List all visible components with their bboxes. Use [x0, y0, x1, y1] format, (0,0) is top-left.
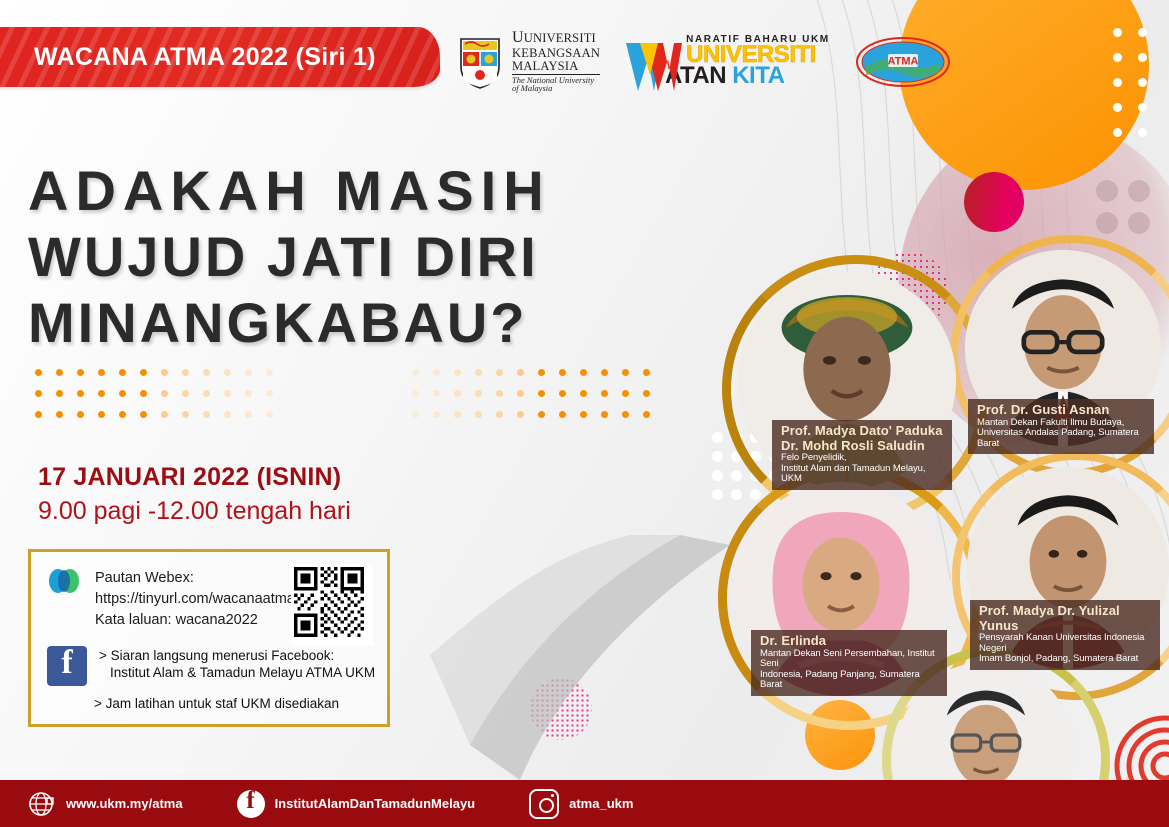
training-hours-note: > Jam latihan untuk staf UKM disediakan	[94, 696, 339, 711]
speaker-4-role-line-2: Imam Bonjol, Padang, Sumatera Barat	[979, 654, 1151, 665]
speaker-4-name-line-1: Prof. Madya Dr. Yulizal Yunus	[979, 604, 1151, 633]
watan-atan: ATAN	[665, 62, 726, 89]
speaker-nameplate-2: Prof. Dr. Gusti Asnan Mantan Dekan Fakul…	[968, 399, 1154, 454]
webex-row: Pautan Webex: https://tinyurl.com/wacana…	[47, 568, 295, 631]
speaker-2-name-line-1: Prof. Dr. Gusti Asnan	[977, 403, 1145, 418]
speaker-nameplate-1: Prof. Madya Dato' Paduka Dr. Mohd Rosli …	[772, 420, 952, 490]
qr-code-icon[interactable]	[291, 564, 373, 646]
svg-text:ATMA: ATMA	[887, 55, 918, 67]
footer-bar: www.ukm.my/atma InstitutAlamDanTamadunMe…	[0, 780, 1169, 827]
watan-kita: KITA	[732, 62, 784, 89]
facebook-row: > Siaran langsung menerusi Facebook: Ins…	[47, 646, 375, 686]
fb-line-1: > Siaran langsung menerusi Facebook:	[99, 647, 375, 664]
headline-line-2: WUJUD JATI DIRI	[28, 224, 688, 290]
speaker-1-name-line-1: Prof. Madya Dato' Paduka	[781, 424, 943, 439]
event-date: 17 JANUARI 2022 (ISNIN)	[38, 463, 341, 492]
poster-headline: ADAKAH MASIH WUJUD JATI DIRI MINANGKABAU…	[28, 158, 688, 356]
footer-instagram-text: atma_ukm	[569, 796, 633, 811]
facebook-details: > Siaran langsung menerusi Facebook: Ins…	[99, 646, 375, 682]
ukm-line2: KEBANGSAAN	[512, 47, 600, 60]
white-dot-grid-decoration	[1105, 20, 1155, 145]
magenta-circle-decoration	[964, 172, 1024, 232]
footer-website-item[interactable]: www.ukm.my/atma	[28, 790, 183, 818]
orange-circle-decoration	[899, 0, 1149, 190]
ukm-line1: UNIVERSITI	[524, 31, 596, 45]
speaker-nameplate-3: Dr. Erlinda Mantan Dekan Seni Persembaha…	[751, 630, 947, 696]
event-series-banner: WACANA ATMA 2022 (Siri 1)	[0, 27, 440, 87]
webex-password: Kata laluan: wacana2022	[95, 610, 295, 631]
speaker-1-name-line-2: Dr. Mohd Rosli Saludin	[781, 439, 943, 454]
atma-seal-icon: ATMA	[854, 36, 952, 88]
ukm-tagline2: of Malaysia	[512, 83, 552, 93]
webex-label: Pautan Webex:	[95, 568, 295, 589]
instagram-icon	[529, 789, 559, 819]
footer-facebook-item[interactable]: InstitutAlamDanTamadunMelayu	[237, 790, 476, 818]
headline-line-1: ADAKAH MASIH	[28, 158, 688, 224]
webex-icon	[47, 568, 81, 594]
webex-url[interactable]: https://tinyurl.com/wacanaatma	[95, 589, 295, 610]
ukm-crest-icon	[455, 33, 505, 91]
orange-dot-pattern-left	[28, 362, 280, 425]
footer-facebook-text: InstitutAlamDanTamadunMelayu	[275, 796, 476, 811]
ukm-logo-text: UUNIVERSITI KEBANGSAAN MALAYSIA The Nati…	[512, 30, 600, 93]
mauve-dot-cluster-decoration	[1091, 175, 1155, 239]
webex-details: Pautan Webex: https://tinyurl.com/wacana…	[95, 568, 295, 631]
headline-line-3: MINANGKABAU?	[28, 290, 688, 356]
logo-group: UUNIVERSITI KEBANGSAAN MALAYSIA The Nati…	[455, 30, 952, 93]
footer-website-text: www.ukm.my/atma	[66, 796, 183, 811]
speaker-4-role-line-1: Pensyarah Kanan Universitas Indonesia Ne…	[979, 633, 1151, 654]
globe-icon	[28, 790, 56, 818]
orange-dot-pattern-right	[405, 362, 657, 425]
fb-line-2: Institut Alam & Tamadun Melayu ATMA UKM	[99, 664, 375, 681]
pink-halftone-decoration-2	[530, 678, 592, 740]
event-access-box: Pautan Webex: https://tinyurl.com/wacana…	[28, 549, 390, 727]
ukm-line3: MALAYSIA	[512, 60, 600, 73]
speaker-nameplate-4: Prof. Madya Dr. Yulizal Yunus Pensyarah …	[970, 600, 1160, 670]
speaker-3-name-line-1: Dr. Erlinda	[760, 634, 938, 649]
facebook-icon	[237, 790, 265, 818]
speaker-1-role-line-2: Institut Alam dan Tamadun Melayu, UKM	[781, 464, 943, 485]
speaker-2-role-line-2: Universitas Andalas Padang, Sumatera Bar…	[977, 428, 1145, 449]
event-time: 9.00 pagi -12.00 tengah hari	[38, 497, 351, 526]
facebook-icon[interactable]	[47, 646, 87, 686]
speaker-3-role-line-1: Mantan Dekan Seni Persembahan, Institut …	[760, 649, 938, 670]
ukm-logo: UUNIVERSITI KEBANGSAAN MALAYSIA The Nati…	[455, 30, 600, 93]
banner-title: WACANA ATMA 2022 (Siri 1)	[0, 43, 376, 72]
poster-root: WACANA ATMA 2022 (Siri 1) UUNIVERSITI KE…	[0, 0, 1169, 827]
footer-instagram-item[interactable]: atma_ukm	[529, 789, 633, 819]
grey-swoosh-decoration	[430, 535, 730, 785]
watan-kita-logo: NARATIF BAHARU UKM UNIVERSITI WATAN KITA	[624, 35, 830, 88]
speaker-3-role-line-2: Indonesia, Padang Panjang, Sumatera Bara…	[760, 670, 938, 691]
